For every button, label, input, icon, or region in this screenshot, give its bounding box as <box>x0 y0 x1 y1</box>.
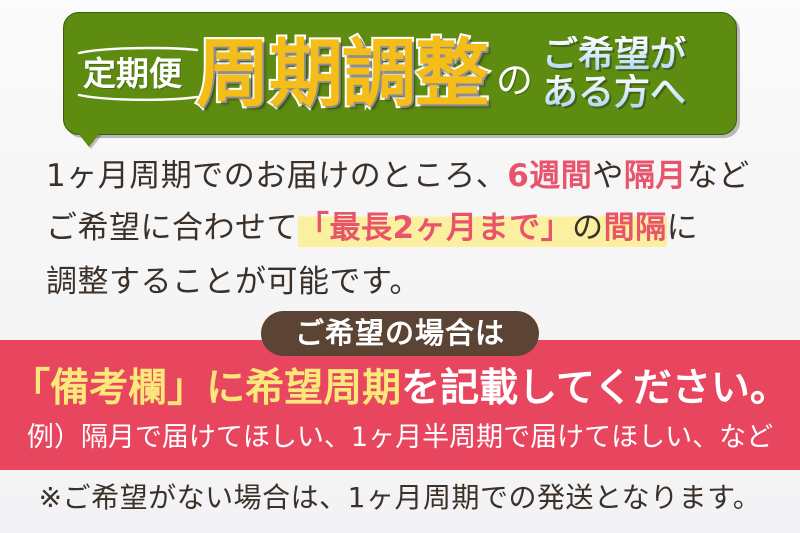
speech-bubble-tail-icon <box>78 133 100 147</box>
subscription-label-text: 定期便 <box>83 57 182 90</box>
body-line-2-part1: ご希望に合わせて <box>46 210 298 246</box>
pink-main-yellow: 「備考欄」に希望周期 <box>11 366 401 411</box>
header-section: 定期便 周期調整 の ご希望が ある方へ <box>0 0 800 150</box>
body-line-2: ご希望に合わせて「最長2ヶ月まで」の間隔に <box>46 213 698 244</box>
header-subtitle-line2: ある方へ <box>542 74 686 111</box>
body-line-1-emphasis-1: 6週間 <box>507 158 592 194</box>
main-title: 周期調整 <box>196 37 488 111</box>
body-line-1-part3: など <box>687 158 750 194</box>
status-badge: ご希望の場合は <box>261 311 539 356</box>
subscription-label-block: 定期便 <box>81 48 184 100</box>
footer-note: ※ご希望がない場合は、1ヶ月周期での発送となります。 <box>0 484 800 512</box>
header-content-row: 定期便 周期調整 の ご希望が ある方へ <box>63 12 737 135</box>
status-badge-label: ご希望の場合は <box>295 319 505 348</box>
header-subtitle-block: ご希望が ある方へ <box>542 36 686 111</box>
pink-main-line: 「備考欄」に希望周期を記載してください。 <box>0 369 800 408</box>
decorative-line-top-icon <box>77 46 199 56</box>
pink-main-white: を記載してください。 <box>401 366 789 411</box>
body-line-2-highlight-pink: 「最長2ヶ月まで」 <box>298 210 572 247</box>
body-line-2-part2: に <box>667 210 699 246</box>
body-line-1: 1ヶ月周期でのお届けのところ、6週間や隔月など <box>46 161 750 192</box>
header-subtitle-line1: ご希望が <box>542 36 686 73</box>
body-line-3: 調整することが可能です。 <box>46 267 421 298</box>
body-line-1-emphasis-2: 隔月 <box>624 158 687 194</box>
title-particle: の <box>496 62 533 99</box>
body-line-2-highlight-plain: の <box>572 210 604 247</box>
pink-example-line: 例）隔月で届けてほしい、1ヶ月半周期で届けてほしい、など <box>0 424 800 451</box>
pink-callout-band: 「備考欄」に希望周期を記載してください。 例）隔月で届けてほしい、1ヶ月半周期で… <box>0 340 800 470</box>
body-line-2-highlight-pink-2: 間隔 <box>604 210 667 247</box>
promo-banner: 定期便 周期調整 の ご希望が ある方へ 1ヶ月周期でのお届けのところ、6週間や… <box>0 0 800 533</box>
decorative-line-bottom-icon <box>77 92 199 102</box>
body-line-1-part1: 1ヶ月周期でのお届けのところ、 <box>46 158 507 194</box>
body-line-1-part2: や <box>592 158 624 194</box>
